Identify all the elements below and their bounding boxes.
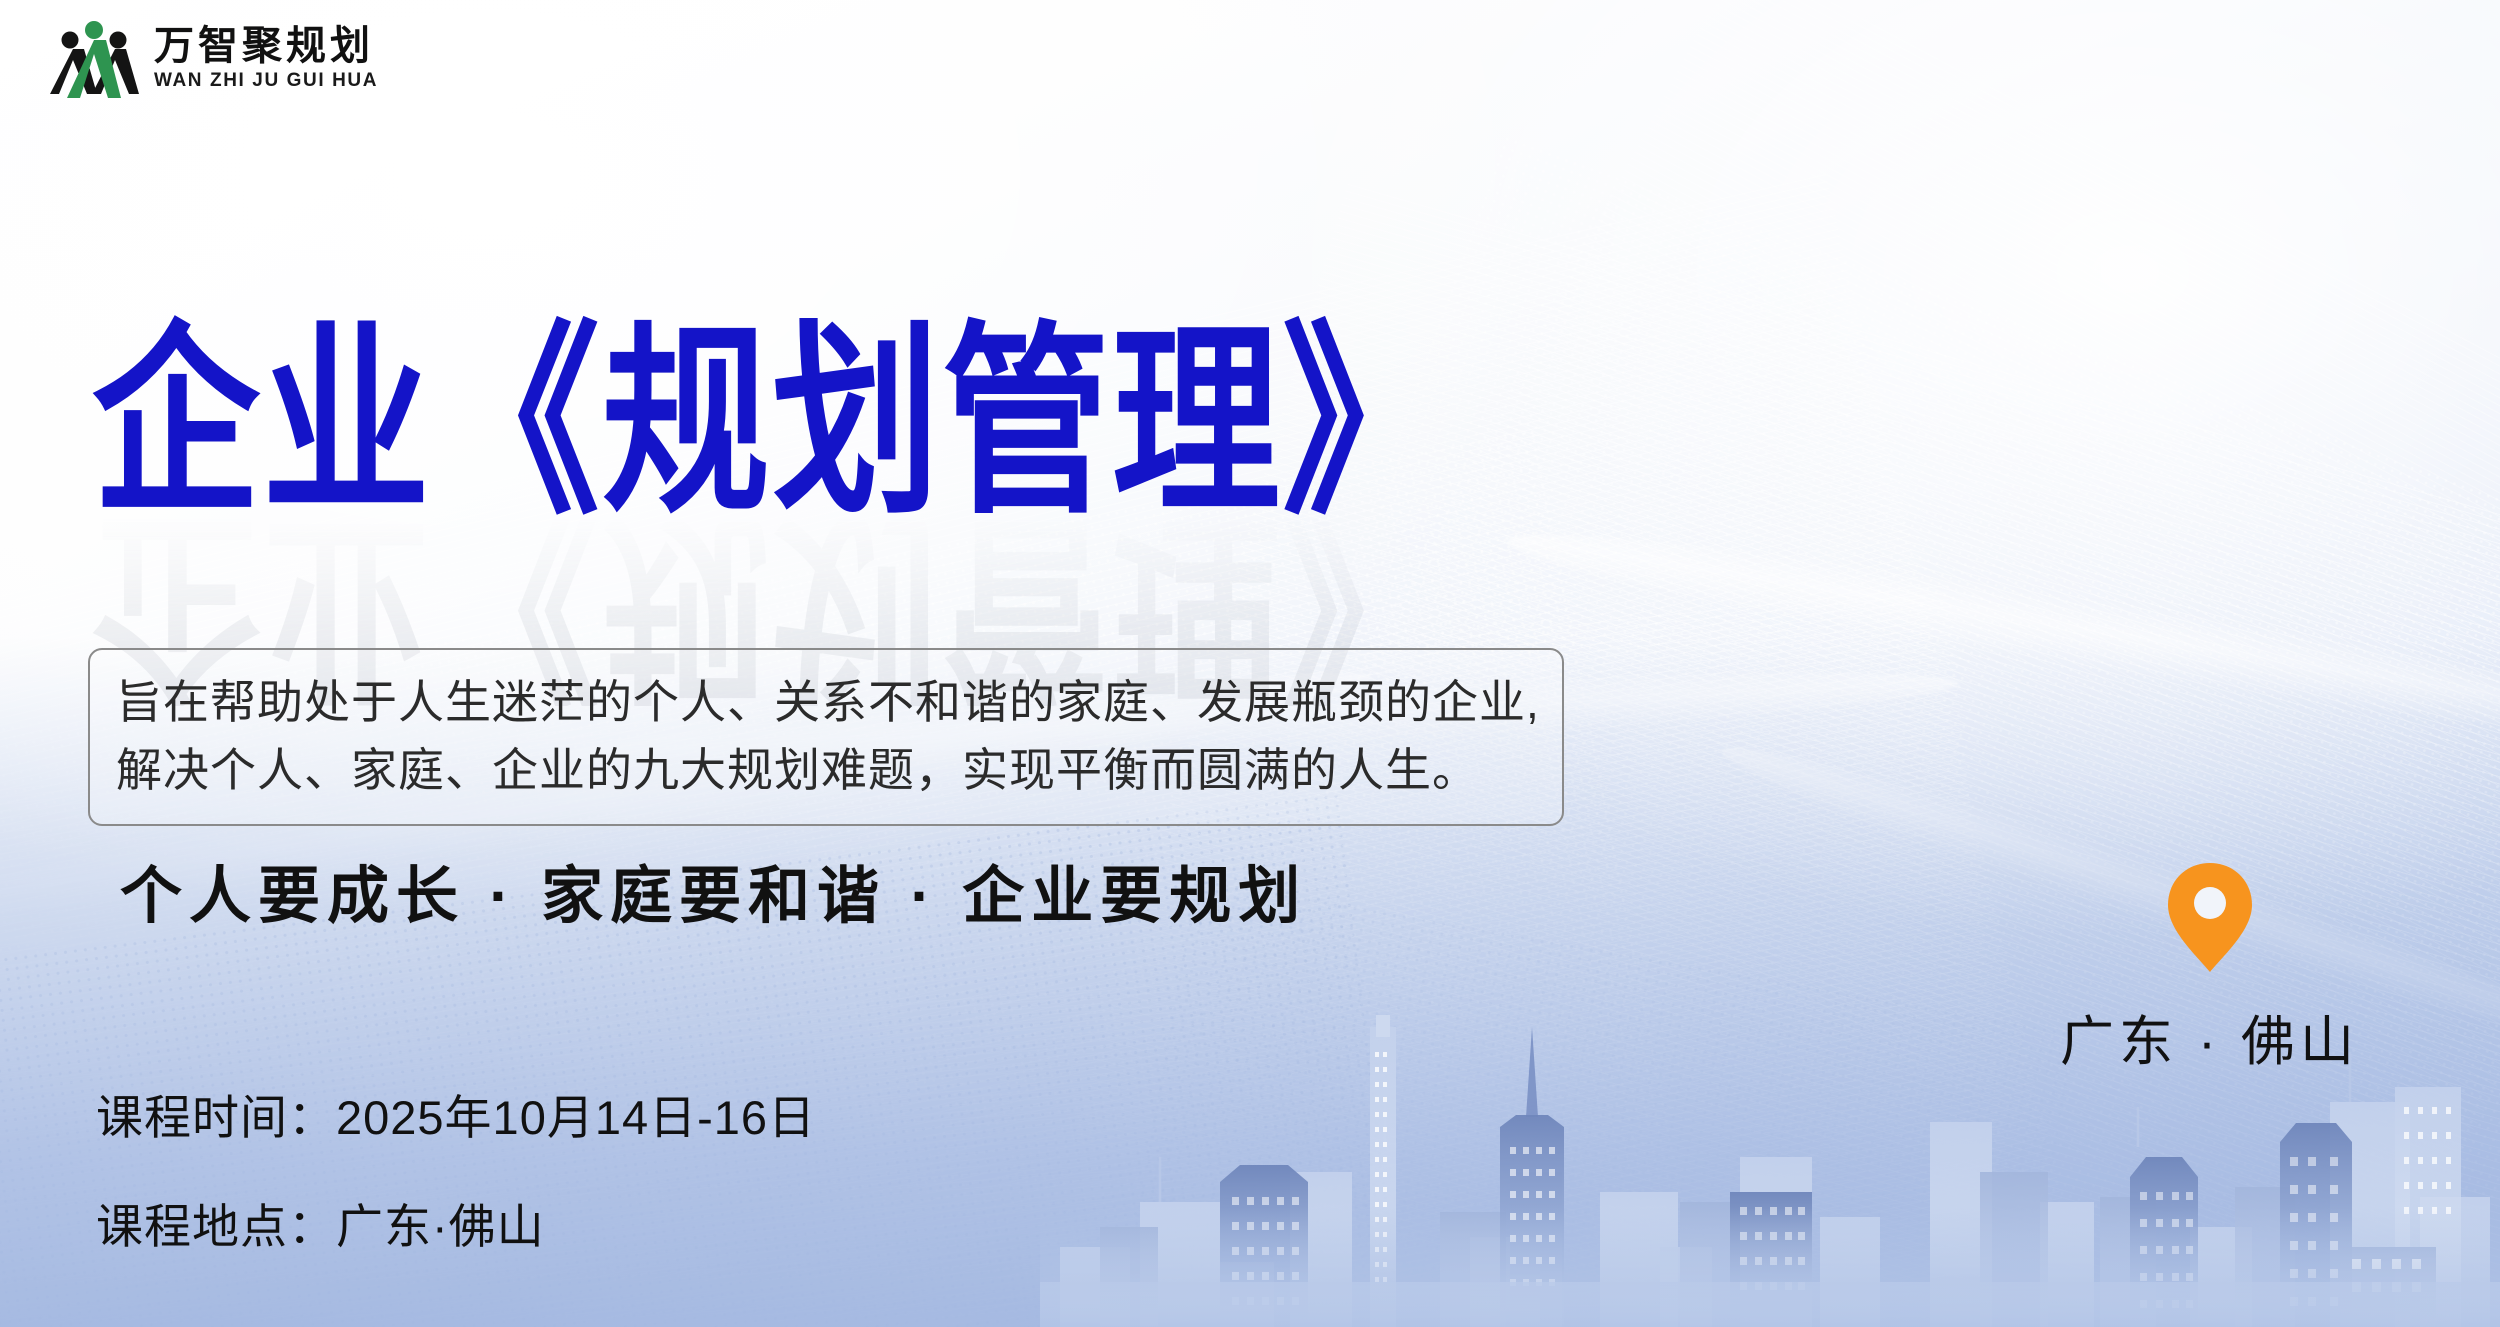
description-line-1: 旨在帮助处于人生迷茫的个人、关系不和谐的家庭、发展瓶颈的企业, bbox=[116, 668, 1538, 736]
location-label: 广东 · 佛山 bbox=[2060, 997, 2359, 1076]
description-box: 旨在帮助处于人生迷茫的个人、关系不和谐的家庭、发展瓶颈的企业, 解决个人、家庭、… bbox=[88, 648, 1564, 826]
course-info: 课程时间：2025年10月14日-16日 课程地点：广东·佛山 bbox=[96, 1079, 816, 1257]
location-badge: 广东 · 佛山 bbox=[2060, 860, 2359, 1076]
logo-name-en: WAN ZHI JU GUI HUA bbox=[154, 70, 378, 92]
description-line-2: 解决个人、家庭、企业的九大规划难题，实现平衡而圆满的人生。 bbox=[116, 736, 1538, 804]
map-pin-icon bbox=[2165, 860, 2255, 975]
logo-name-cn: 万智聚规划 bbox=[154, 25, 378, 67]
poster-canvas: 万智聚规划 WAN ZHI JU GUI HUA 企业《规划管理》 企业《规划管… bbox=[0, 0, 2500, 1327]
three-people-logo-icon bbox=[48, 14, 140, 102]
course-date: 课程时间：2025年10月14日-16日 bbox=[96, 1079, 816, 1148]
tagline: 个人要成长 · 家庭要和谐 · 企业要规划 bbox=[120, 845, 1307, 935]
page-title: 企业《规划管理》 bbox=[92, 320, 1652, 525]
course-place: 课程地点：广东·佛山 bbox=[96, 1188, 816, 1257]
brand-logo[interactable]: 万智聚规划 WAN ZHI JU GUI HUA bbox=[48, 14, 378, 102]
